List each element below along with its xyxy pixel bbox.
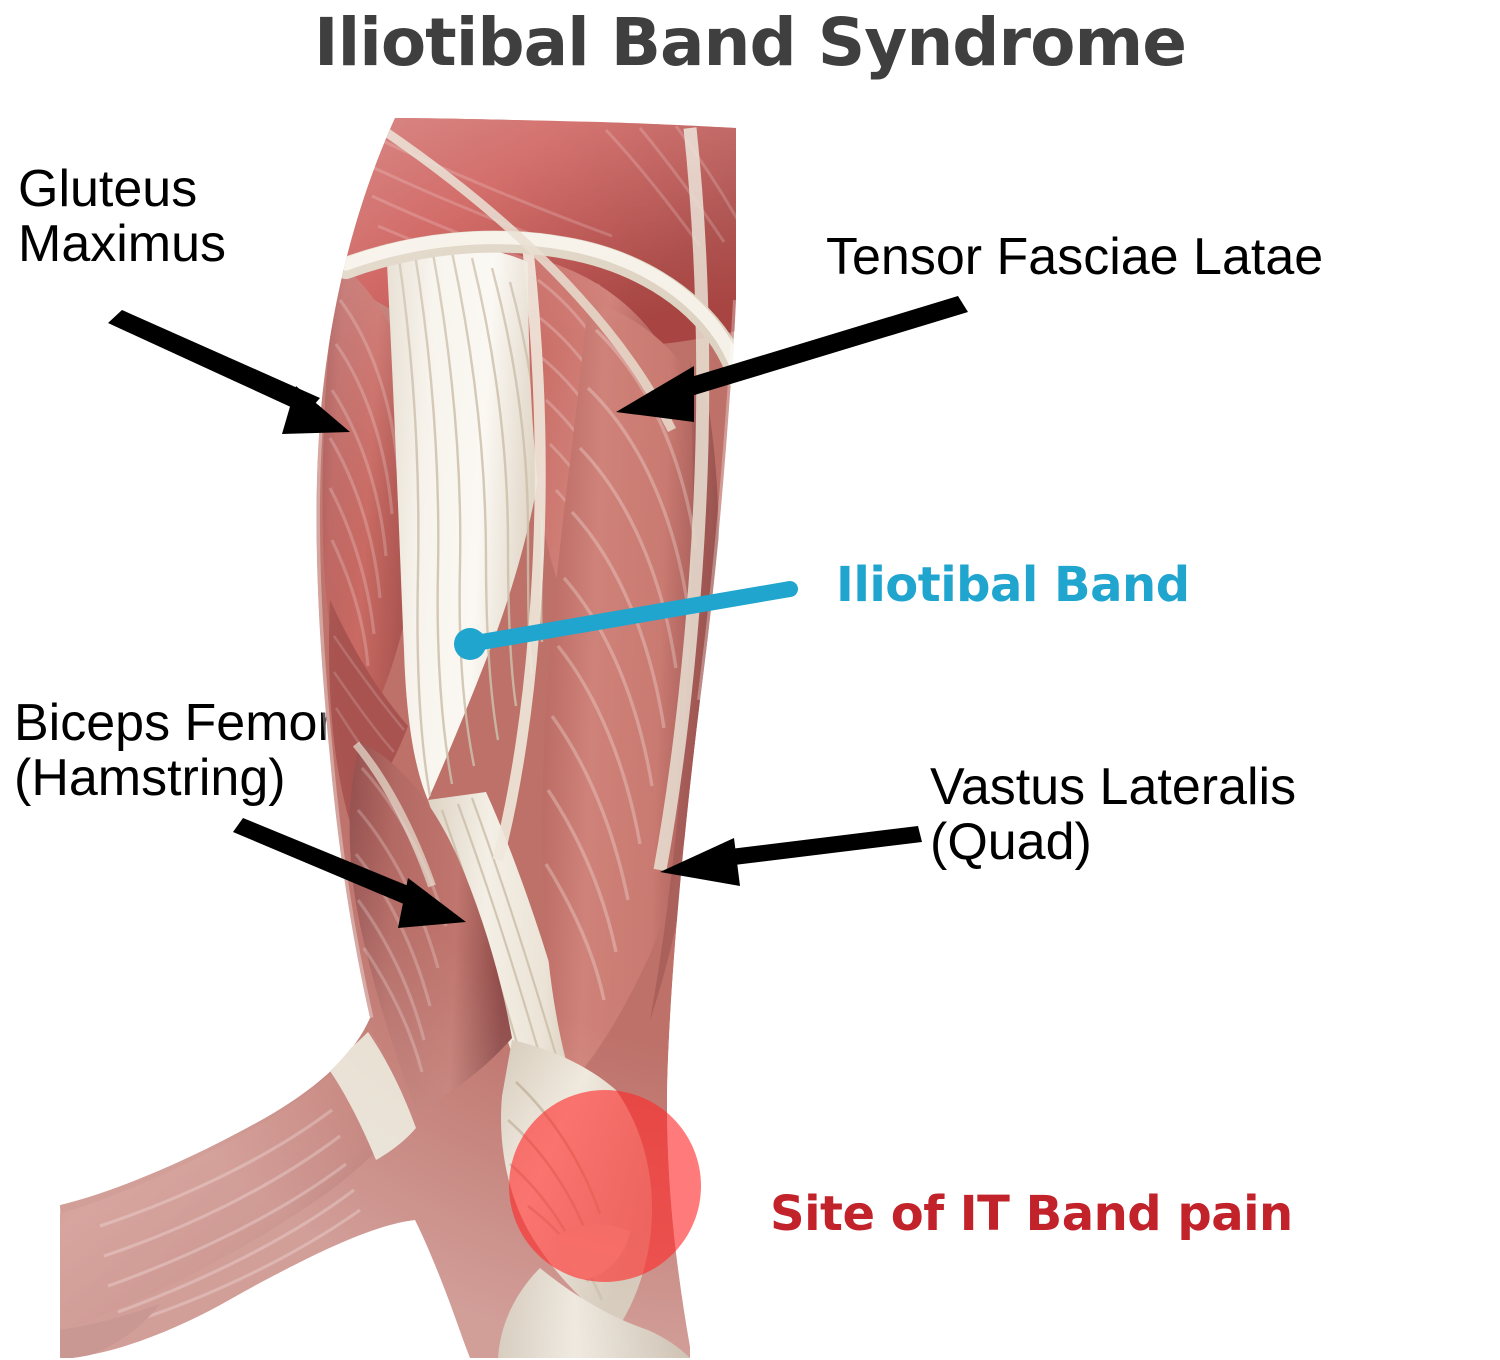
glute-striations xyxy=(330,300,398,666)
label-iliotibal-band: Iliotibal Band xyxy=(836,557,1190,613)
diagram-canvas: Iliotibal Band Syndrome xyxy=(0,0,1500,1360)
tfl-striations xyxy=(538,280,632,576)
vastus-lateralis xyxy=(542,300,719,1082)
lower-leg-shin xyxy=(498,1268,690,1358)
rear-ankle xyxy=(58,1304,160,1358)
calf-striations xyxy=(100,1110,360,1318)
upper-fascia-fold xyxy=(386,132,672,430)
label-vastus-lateralis: Vastus Lateralis (Quad) xyxy=(930,760,1296,870)
fascia-lata-sheet xyxy=(386,242,547,800)
label-gluteus-maximus: Gluteus Maximus xyxy=(18,162,226,272)
page-title: Iliotibal Band Syndrome xyxy=(0,4,1500,81)
femoral-condyle xyxy=(556,1224,630,1280)
hip-striations xyxy=(370,126,740,326)
quad-striations xyxy=(546,330,696,1000)
quad-shadow-edge xyxy=(650,360,711,1020)
tendon-seam-anterior xyxy=(498,250,540,860)
vastus-lateralis-arrow xyxy=(660,826,922,886)
tensor-fasciae-latae xyxy=(528,256,668,636)
iliac-crest-band xyxy=(346,242,746,412)
knee-fibres xyxy=(508,1082,602,1300)
tendon-seam-lateral xyxy=(660,128,703,870)
iliac-crest-highlight xyxy=(346,238,746,408)
calf-tendon xyxy=(328,1032,416,1160)
fascia-fibres xyxy=(398,248,542,796)
biceps-femoris xyxy=(350,742,512,1110)
knee-region xyxy=(501,1040,652,1328)
iliotibal-band-pointer xyxy=(454,589,790,660)
edge-feather-right xyxy=(700,300,736,700)
label-pain-site: Site of IT Band pain xyxy=(770,1186,1293,1242)
pain-site-circle xyxy=(509,1090,701,1282)
iliotibal-band-distal xyxy=(428,792,606,1179)
label-biceps-femoris: Biceps Femoris (Hamstring) xyxy=(14,696,372,806)
gluteus-maximus xyxy=(323,262,421,742)
hamstring-striations xyxy=(356,768,446,1072)
tensor-fasciae-latae-arrow xyxy=(616,296,968,422)
calf-gastrocnemius xyxy=(58,1030,408,1332)
biceps-femoris-arrow xyxy=(233,818,466,928)
label-tensor-fasciae-latae: Tensor Fasciae Latae xyxy=(826,230,1323,285)
gluteus-medius-region xyxy=(346,115,740,347)
gluteus-maximus-arrow xyxy=(108,310,350,434)
